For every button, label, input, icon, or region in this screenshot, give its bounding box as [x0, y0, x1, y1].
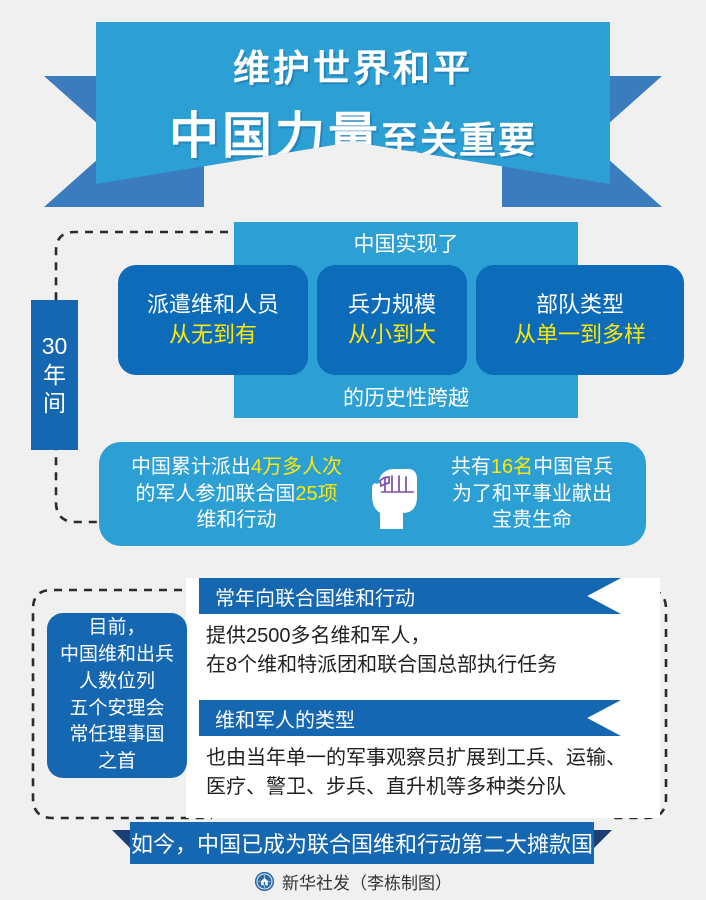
stat-r1-hl: 16名: [491, 456, 533, 478]
achievement-card-1-title: 派遣维和人员: [147, 290, 279, 320]
timespan-tab: 30 年 间: [31, 300, 78, 450]
achievement-card-3-highlight: 从单一到多样: [514, 320, 646, 350]
achievement-card-2-highlight: 从小到大: [348, 320, 436, 350]
achievement-card-1-highlight: 从无到有: [169, 320, 257, 350]
stat-r1-pre: 共有: [451, 456, 491, 478]
raised-fist-icon: [364, 457, 426, 531]
stat-r1-post: 中国官兵: [533, 456, 613, 478]
achievement-card-1[interactable]: 派遣维和人员 从无到有: [118, 265, 308, 375]
section3-ribbon-2: 维和军人的类型: [199, 700, 621, 736]
stat-sacrifice-text: 共有16名中国官兵 为了和平事业献出 宝贵生命: [426, 454, 646, 533]
current-status-tab: 目前， 中国维和出兵 人数位列 五个安理会 常任理事国 之首: [47, 613, 187, 778]
stat-l1-pre: 中国累计派出: [131, 456, 251, 478]
stat-deployment-line-2: 的军人参加联合国25项: [109, 481, 364, 507]
section3-body-1: 提供2500多名维和军人， 在8个维和特派团和联合国总部执行任务: [206, 622, 656, 680]
stat-sacrifice-line-3: 宝贵生命: [426, 507, 638, 533]
stat-deployment-text: 中国累计派出4万多人次 的军人参加联合国25项 维和行动: [99, 454, 364, 533]
achievement-card-2-title: 兵力规模: [348, 290, 436, 320]
section3-ribbon-1: 常年向联合国维和行动: [199, 578, 621, 614]
stat-deployment-line-3: 维和行动: [109, 507, 364, 533]
achievement-card-3-title: 部队类型: [536, 290, 624, 320]
infographic-root: 维护世界和平 中国力量 至关重要 中国实现了 派遣维和人员 从无到有 兵力规模 …: [0, 0, 706, 900]
timespan-number: 30: [42, 332, 68, 361]
statistics-pill: 中国累计派出4万多人次 的军人参加联合国25项 维和行动 共有16名中国官兵 为…: [99, 442, 646, 546]
section1-bottom-label: 的历史性跨越: [234, 382, 578, 412]
stat-l1-hl: 4万多人次: [251, 456, 342, 478]
section1-card-row: 派遣维和人员 从无到有 兵力规模 从小到大 部队类型 从单一到多样: [118, 265, 688, 375]
xinhua-logo-icon: [254, 871, 275, 892]
page-title-line2-emphasis: 中国力量: [169, 96, 381, 168]
conclusion-banner: 如今，中国已成为联合国维和行动第二大摊款国: [112, 822, 612, 864]
achievement-card-3[interactable]: 部队类型 从单一到多样: [476, 265, 684, 375]
stat-sacrifice-line-1: 共有16名中国官兵: [426, 454, 638, 480]
timespan-char-year: 年: [43, 361, 66, 390]
page-title-line2-rest: 至关重要: [381, 110, 537, 164]
stat-l2-pre: 的军人参加联合国: [135, 483, 295, 505]
header-ribbon-body: 维护世界和平 中国力量 至关重要: [96, 22, 610, 184]
credit-text: 新华社发（李栋制图）: [282, 869, 452, 894]
page-title-line2: 中国力量 至关重要: [169, 96, 537, 168]
stat-l2-hl: 25项: [295, 483, 337, 505]
conclusion-banner-text: 如今，中国已成为联合国维和行动第二大摊款国: [130, 822, 594, 864]
stat-sacrifice-line-2: 为了和平事业献出: [426, 481, 638, 507]
achievement-card-2[interactable]: 兵力规模 从小到大: [317, 265, 467, 375]
section3-body-2: 也由当年单一的军事观察员扩展到工兵、运输、 医疗、警卫、步兵、直升机等多种类分队: [206, 744, 666, 802]
timespan-char-span: 间: [43, 389, 66, 418]
page-title-line1: 维护世界和平: [233, 38, 473, 92]
section1-top-label: 中国实现了: [234, 228, 578, 258]
header-ribbon: 维护世界和平 中国力量 至关重要: [0, 22, 706, 207]
stat-deployment-line-1: 中国累计派出4万多人次: [109, 454, 364, 480]
credit-line: 新华社发（李栋制图）: [0, 869, 706, 894]
